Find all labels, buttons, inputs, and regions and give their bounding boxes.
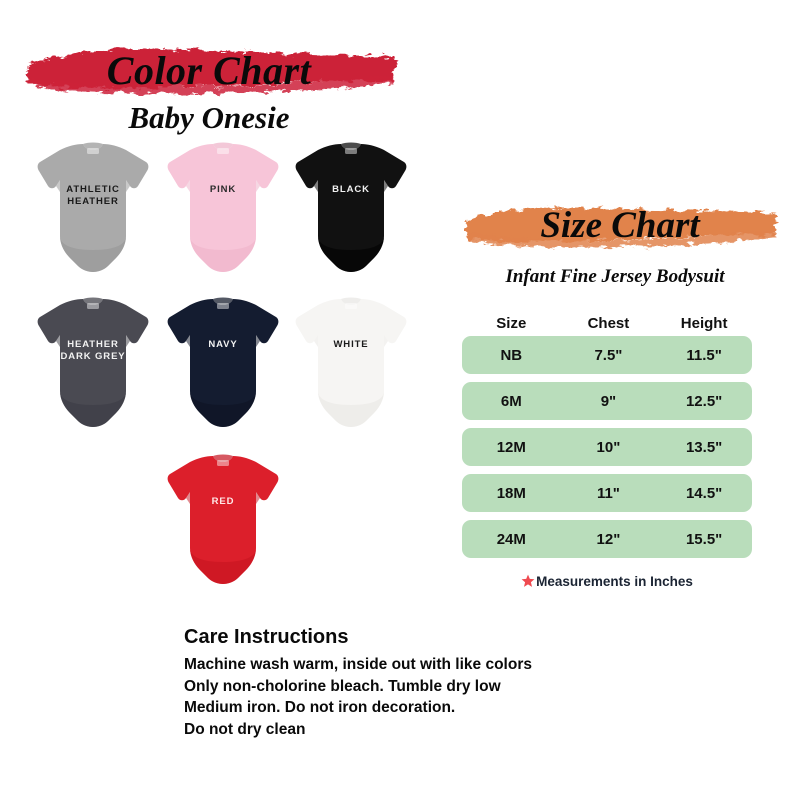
- size-chart-heading-brush: Size Chart: [455, 196, 785, 256]
- onesie-swatch-navy[interactable]: NAVY: [160, 295, 286, 445]
- height-cell: 13.5": [656, 439, 752, 456]
- onesie-swatch-white[interactable]: WHITE: [288, 295, 414, 445]
- onesie-swatch-pink[interactable]: PINK: [160, 140, 286, 290]
- table-row: NB7.5"11.5": [462, 336, 752, 374]
- column-header-chest: Chest: [561, 315, 657, 332]
- care-instruction-line: Do not dry clean: [184, 719, 624, 741]
- care-instruction-line: Machine wash warm, inside out with like …: [184, 654, 624, 676]
- table-row: 6M9"12.5": [462, 382, 752, 420]
- chest-cell: 7.5": [561, 347, 657, 364]
- size-chart-subtitle: Infant Fine Jersey Bodysuit: [440, 266, 790, 288]
- size-chart-table: Size Chest Height NB7.5"11.5"6M9"12.5"12…: [462, 310, 752, 566]
- onesie-garment-icon: [30, 140, 156, 290]
- chest-cell: 12": [561, 531, 657, 548]
- onesie-garment-icon: [160, 140, 286, 290]
- care-instruction-line: Only non-cholorine bleach. Tumble dry lo…: [184, 676, 624, 698]
- onesie-garment-icon: [30, 295, 156, 445]
- chest-cell: 11": [561, 485, 657, 502]
- table-row: 18M11"14.5": [462, 474, 752, 512]
- care-instructions-list: Machine wash warm, inside out with like …: [184, 654, 624, 740]
- table-row: 12M10"13.5": [462, 428, 752, 466]
- size-cell: 18M: [462, 485, 561, 502]
- height-cell: 11.5": [656, 347, 752, 364]
- size-cell: NB: [462, 347, 561, 364]
- color-chart-heading-brush: Color Chart: [14, 38, 404, 104]
- table-header-row: Size Chest Height: [462, 310, 752, 336]
- size-chart-title: Size Chart: [455, 196, 785, 256]
- onesie-swatch-heather-dark grey[interactable]: HEATHER DARK GREY: [30, 295, 156, 445]
- star-icon: [521, 574, 535, 591]
- care-instructions-section: Care Instructions Machine wash warm, ins…: [184, 626, 624, 740]
- size-cell: 6M: [462, 393, 561, 410]
- height-cell: 12.5": [656, 393, 752, 410]
- onesie-garment-icon: [288, 140, 414, 290]
- care-instruction-line: Medium iron. Do not iron decoration.: [184, 697, 624, 719]
- size-cell: 24M: [462, 531, 561, 548]
- height-cell: 15.5": [656, 531, 752, 548]
- table-body: NB7.5"11.5"6M9"12.5"12M10"13.5"18M11"14.…: [462, 336, 752, 558]
- onesie-garment-icon: [160, 295, 286, 445]
- chest-cell: 10": [561, 439, 657, 456]
- color-chart-title: Color Chart: [14, 38, 404, 104]
- onesie-swatch-black[interactable]: BLACK: [288, 140, 414, 290]
- care-instructions-title: Care Instructions: [184, 626, 624, 649]
- chest-cell: 9": [561, 393, 657, 410]
- measurements-note-text: Measurements in Inches: [536, 574, 693, 589]
- measurements-note: Measurements in Inches: [462, 574, 752, 591]
- onesie-garment-icon: [288, 295, 414, 445]
- size-cell: 12M: [462, 439, 561, 456]
- onesie-swatch-red[interactable]: RED: [160, 452, 286, 602]
- column-header-size: Size: [462, 315, 561, 332]
- onesie-garment-icon: [160, 452, 286, 602]
- table-row: 24M12"15.5": [462, 520, 752, 558]
- color-chart-subtitle: Baby Onesie: [14, 100, 404, 136]
- column-header-height: Height: [656, 315, 752, 332]
- height-cell: 14.5": [656, 485, 752, 502]
- onesie-swatch-athletic-heather[interactable]: ATHLETIC HEATHER: [30, 140, 156, 290]
- onesie-color-grid: ATHLETIC HEATHER PINK BLACK HEATHER DARK…: [20, 140, 420, 590]
